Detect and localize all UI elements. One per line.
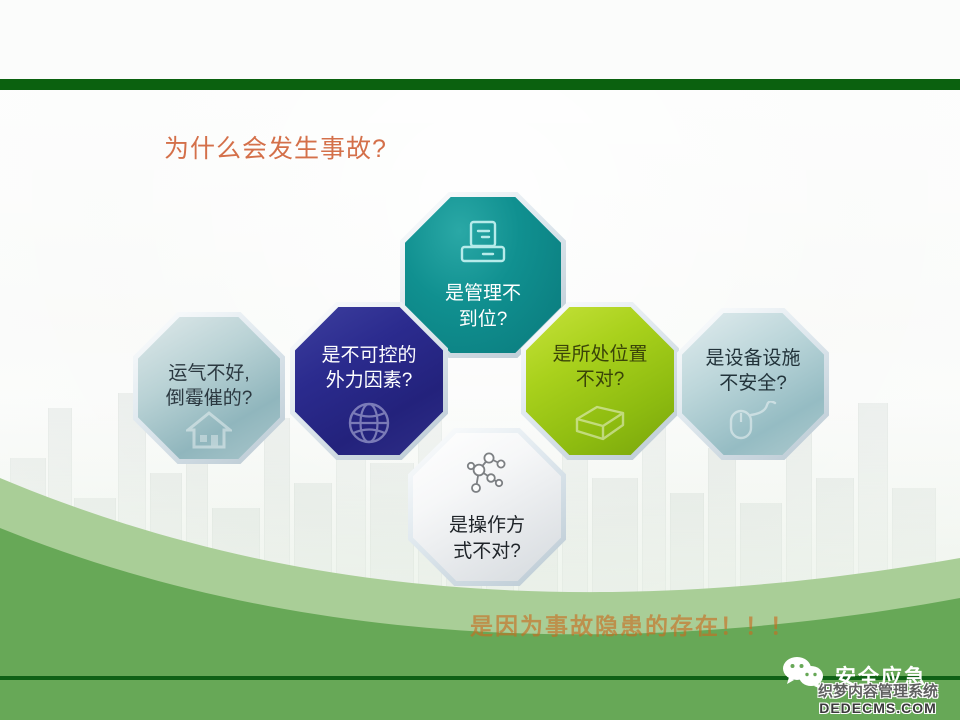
presentation-slide: 为什么会发生事故? 是因为事故隐患的存在！！！ 安全应急 织梦内 bbox=[0, 0, 960, 720]
conclusion-callout: 是因为事故隐患的存在！！！ bbox=[470, 607, 870, 641]
top-accent-bar bbox=[0, 79, 960, 90]
node-external-force-label: 是不可控的 外力因素? bbox=[321, 343, 416, 393]
mouse-icon bbox=[725, 401, 781, 446]
watermark: 织梦内容管理系统 DEDECMS.COM bbox=[818, 684, 938, 716]
node-position-label: 是所处位置 不对? bbox=[552, 342, 647, 392]
molecule-icon bbox=[461, 450, 513, 503]
node-equipment[interactable]: 是设备设施 不安全? bbox=[682, 313, 824, 455]
node-operation[interactable]: 是操作方 式不对? bbox=[413, 433, 561, 581]
node-operation-label: 是操作方 式不对? bbox=[449, 513, 525, 563]
server-document-icon bbox=[457, 218, 509, 271]
book-icon bbox=[571, 403, 629, 450]
node-equipment-label: 是设备设施 不安全? bbox=[705, 346, 800, 396]
node-external-force[interactable]: 是不可控的 外力因素? bbox=[295, 307, 443, 455]
node-position[interactable]: 是所处位置 不对? bbox=[526, 307, 674, 455]
page-title: 为什么会发生事故? bbox=[164, 129, 387, 165]
node-luck[interactable]: 运气不好, 倒霉催的? bbox=[138, 317, 280, 459]
globe-icon bbox=[347, 401, 391, 450]
watermark-cn: 织梦内容管理系统 bbox=[818, 684, 938, 701]
node-luck-label: 运气不好, 倒霉催的? bbox=[166, 361, 253, 411]
house-icon bbox=[186, 409, 232, 454]
watermark-en: DEDECMS.COM bbox=[818, 701, 938, 716]
node-management-label: 是管理不 到位? bbox=[445, 281, 521, 331]
